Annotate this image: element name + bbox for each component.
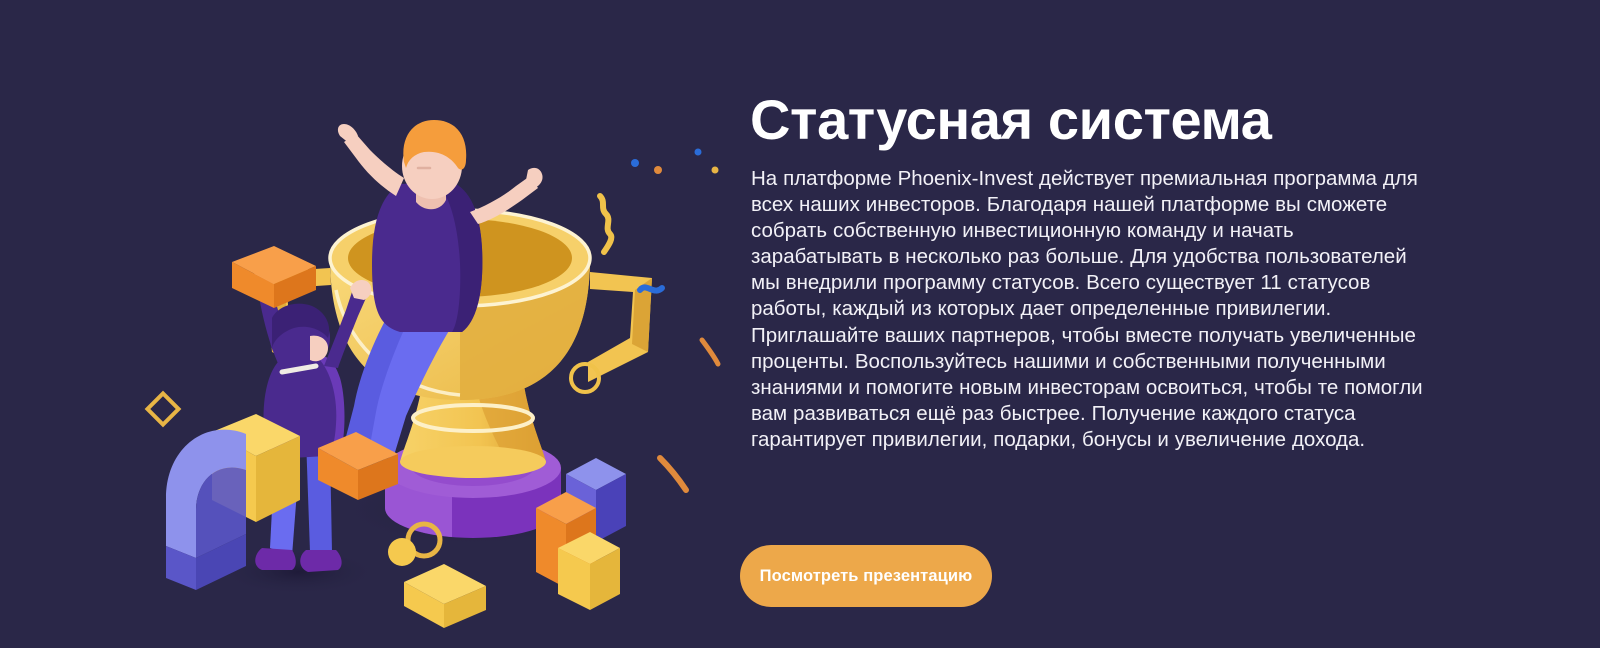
yellow-dot-center xyxy=(388,538,416,566)
hero-description: На платформе Phoenix-Invest действует пр… xyxy=(751,166,1423,453)
status-system-hero-section: Статусная система На платформе Phoenix-I… xyxy=(0,0,1600,648)
content-pane: Статусная система На платформе Phoenix-I… xyxy=(740,0,1600,648)
page-title: Статусная система xyxy=(750,88,1272,152)
view-presentation-button[interactable]: Посмотреть презентацию xyxy=(740,545,992,607)
isometric-trophy-celebration-illustration xyxy=(0,0,740,648)
illustration-pane xyxy=(0,0,740,648)
